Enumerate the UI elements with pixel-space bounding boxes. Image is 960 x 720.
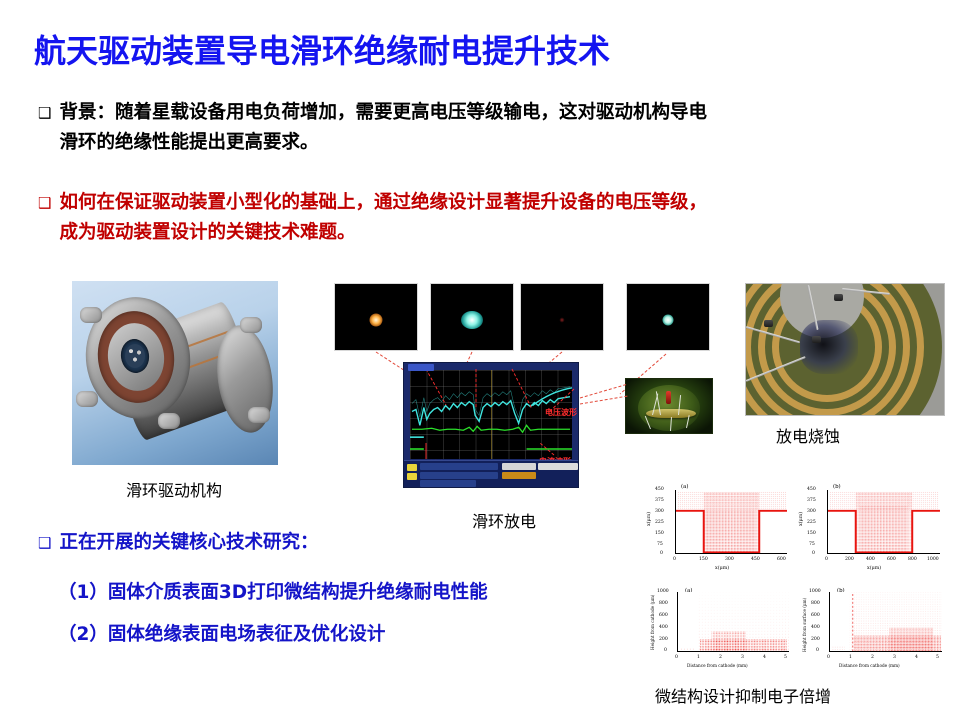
chart-a-ytick: 150: [655, 531, 664, 536]
bullet-research: ❑ 正在开展的关键核心技术研究：: [38, 528, 638, 558]
bullet-background-text: 背景：随着星载设备用电负荷增加，需要更高电压等级输电，这对驱动机构导电 滑环的绝…: [59, 98, 707, 158]
scope-channel-badge: [407, 473, 417, 480]
leader-line-to-burn: [576, 366, 752, 416]
figure-discharge-ablation-photo: [745, 283, 945, 416]
chart-a-ylabel: x(μm): [647, 512, 652, 526]
cad-mount-tab: [80, 307, 102, 323]
chart-c-xtick: 3: [741, 655, 744, 660]
chart-d-xtick: 3: [893, 655, 896, 660]
caption-microstructure: 微结构设计抑制电子倍增: [655, 683, 831, 707]
scope-top-toolbar: [408, 364, 434, 371]
chart-c-xtick: 5: [784, 655, 787, 660]
scope-trigger-panel: [502, 472, 536, 479]
scope-timebase-panel: [538, 463, 578, 470]
faint-red-spot-icon: [560, 317, 565, 322]
chart-b-point-cloud: [828, 490, 940, 553]
bullet-marker-icon: ❑: [38, 188, 51, 215]
chart-c-ytick: 600: [659, 613, 668, 618]
orange-spot-icon: [370, 313, 383, 326]
chart-a-xtick: 300: [725, 557, 734, 562]
chart-b-xtick: 200: [845, 557, 854, 562]
chart-panel-b: (b): [797, 478, 950, 578]
bullet-marker-icon: ❑: [38, 528, 51, 555]
bullet-background-line2: 滑环的绝缘性能提出更高要求。: [59, 132, 318, 153]
chart-b-ytick: 75: [809, 542, 815, 547]
scope-channel-badge: [407, 464, 417, 471]
chart-c-ytick: 400: [659, 625, 668, 630]
cad-mount-tab: [240, 317, 262, 333]
chart-c-point-cloud: [678, 592, 789, 651]
scope-readout-row: [420, 463, 498, 470]
annotation-voltage-waveform: 电压波形: [545, 407, 577, 418]
chart-b-ytick: 225: [807, 520, 816, 525]
chart-c-xtick: 1: [697, 655, 700, 660]
chart-c-xtick: 2: [719, 655, 722, 660]
research-heading: 正在开展的关键核心技术研究：: [59, 528, 318, 558]
chart-a-ytick: 225: [655, 520, 664, 525]
research-item-1: （1）固体介质表面3D打印微结构提升绝缘耐电性能: [58, 578, 488, 604]
chart-b-ytick: 375: [807, 498, 816, 503]
cad-mount-tab: [76, 391, 98, 407]
scope-status-bar: [404, 460, 578, 487]
cyan-white-spot-icon: [663, 314, 674, 325]
chart-b-xlabel: x(μm): [867, 566, 881, 571]
chart-b-xtick: 1000: [927, 557, 939, 562]
chart-a-point-cloud: [676, 490, 787, 553]
chart-b-xtick: 400: [866, 557, 875, 562]
chart-c-ylabel: Height from cathode (μm): [650, 595, 655, 650]
chart-a-xtick: 450: [751, 557, 760, 562]
cad-connector-pins: [125, 344, 145, 368]
chart-c-xlabel: Distance from cathode (mm): [687, 663, 748, 668]
scope-readout-row: [420, 472, 498, 479]
chart-c-xtick: 4: [763, 655, 766, 660]
scope-readout-row: [420, 480, 476, 487]
scope-settings-panel: [502, 463, 536, 470]
chart-d-ylabel: Height from surface (μm): [802, 598, 807, 652]
research-item-2: （2）固体绝缘表面电场表征及优化设计: [58, 620, 385, 646]
chart-d-ytick: 1000: [809, 589, 821, 594]
chart-c-ytick: 0: [664, 648, 667, 653]
chart-b-plot-area: [827, 490, 940, 554]
discharge-frame-4: [626, 283, 710, 351]
chart-d-point-cloud: [830, 592, 942, 651]
solder-joint: [812, 336, 821, 343]
chart-a-xtick: 150: [699, 557, 708, 562]
chart-d-ytick: 800: [811, 601, 820, 606]
bullet-question-text: 如何在保证驱动装置小型化的基础上，通过绝缘设计显著提升设备的电压等级， 成为驱动…: [59, 188, 707, 248]
chart-a-xtick: 600: [777, 557, 786, 562]
solder-joint: [834, 294, 843, 301]
chart-panel-c: (a): [645, 578, 797, 678]
chart-d-xlabel: Distance from cathode (mm): [839, 663, 900, 668]
chart-b-ytick: 450: [807, 487, 816, 492]
chart-a-ytick: 375: [655, 498, 664, 503]
chart-b-xtick: 600: [887, 557, 896, 562]
chart-b-xtick: 800: [908, 557, 917, 562]
solder-joint: [764, 320, 773, 327]
chart-d-xtick: 2: [871, 655, 874, 660]
chart-a-ytick: 75: [657, 542, 663, 547]
bullet-marker-icon: ❑: [38, 98, 51, 125]
bullet-background: ❑ 背景：随着星载设备用电负荷增加，需要更高电压等级输电，这对驱动机构导电 滑环…: [38, 98, 938, 158]
chart-b-ytick: 150: [807, 531, 816, 536]
chart-d-xtick: 4: [915, 655, 918, 660]
chart-b-ytick: 300: [807, 509, 816, 514]
bullet-question: ❑ 如何在保证驱动装置小型化的基础上，通过绝缘设计显著提升设备的电压等级， 成为…: [38, 188, 938, 248]
chart-d-ytick: 0: [816, 648, 819, 653]
ablation-scorch-mark: [800, 320, 858, 374]
chart-d-xtick: 0: [827, 655, 830, 660]
caption-slip-ring-drive: 滑环驱动机构: [126, 477, 222, 501]
page-title: 航天驱动装置导电滑环绝缘耐电提升技术: [34, 26, 610, 72]
cad-mount-tab: [248, 407, 270, 423]
cyan-spot-icon: [461, 311, 483, 329]
chart-a-ytick: 300: [655, 509, 664, 514]
chart-a-xtick: 0: [673, 557, 676, 562]
discharge-frame-3: [520, 283, 604, 351]
chart-a-plot-area: [675, 490, 787, 554]
chart-panel-d: (b): [797, 578, 950, 678]
chart-b-xtick: 0: [825, 557, 828, 562]
chart-a-ytick: 0: [660, 551, 663, 556]
cad-mount-tab: [158, 413, 180, 429]
chart-d-plot-area: [829, 592, 942, 652]
bullet-background-line1: 背景：随着星载设备用电负荷增加，需要更高电压等级输电，这对驱动机构导电: [59, 102, 707, 123]
bullet-question-line1: 如何在保证驱动装置小型化的基础上，通过绝缘设计显著提升设备的电压等级，: [59, 192, 707, 213]
figure-microstructure-charts: (a): [645, 478, 950, 678]
chart-panel-a: (a): [645, 478, 797, 578]
chart-d-ytick: 600: [811, 613, 820, 618]
chart-c-ytick: 800: [659, 601, 668, 606]
chart-b-ytick: 0: [812, 551, 815, 556]
chart-c-ytick: 1000: [657, 589, 669, 594]
chart-c-xtick: 0: [675, 655, 678, 660]
chart-d-ytick: 400: [811, 625, 820, 630]
chart-b-ylabel: x(μm): [799, 512, 804, 526]
chart-a-ytick: 450: [655, 487, 664, 492]
discharge-frame-2: [430, 283, 514, 351]
discharge-frame-1: [334, 283, 418, 351]
figure-slip-ring-drive-cad: [72, 281, 278, 465]
chart-c-ytick: 200: [659, 637, 668, 642]
chart-c-plot-area: [677, 592, 789, 652]
caption-discharge-ablation: 放电烧蚀: [776, 423, 840, 447]
chart-d-ytick: 200: [811, 637, 820, 642]
chart-a-xlabel: x(μm): [715, 566, 729, 571]
chart-d-xtick: 5: [936, 655, 939, 660]
chart-d-xtick: 1: [849, 655, 852, 660]
slide-root: 航天驱动装置导电滑环绝缘耐电提升技术 ❑ 背景：随着星载设备用电负荷增加，需要更…: [0, 0, 960, 720]
figure-oscilloscope: 电压波形 电流波形 开关触发: [403, 362, 579, 488]
bullet-question-line2: 成为驱动装置设计的关键技术难题。: [59, 222, 355, 243]
